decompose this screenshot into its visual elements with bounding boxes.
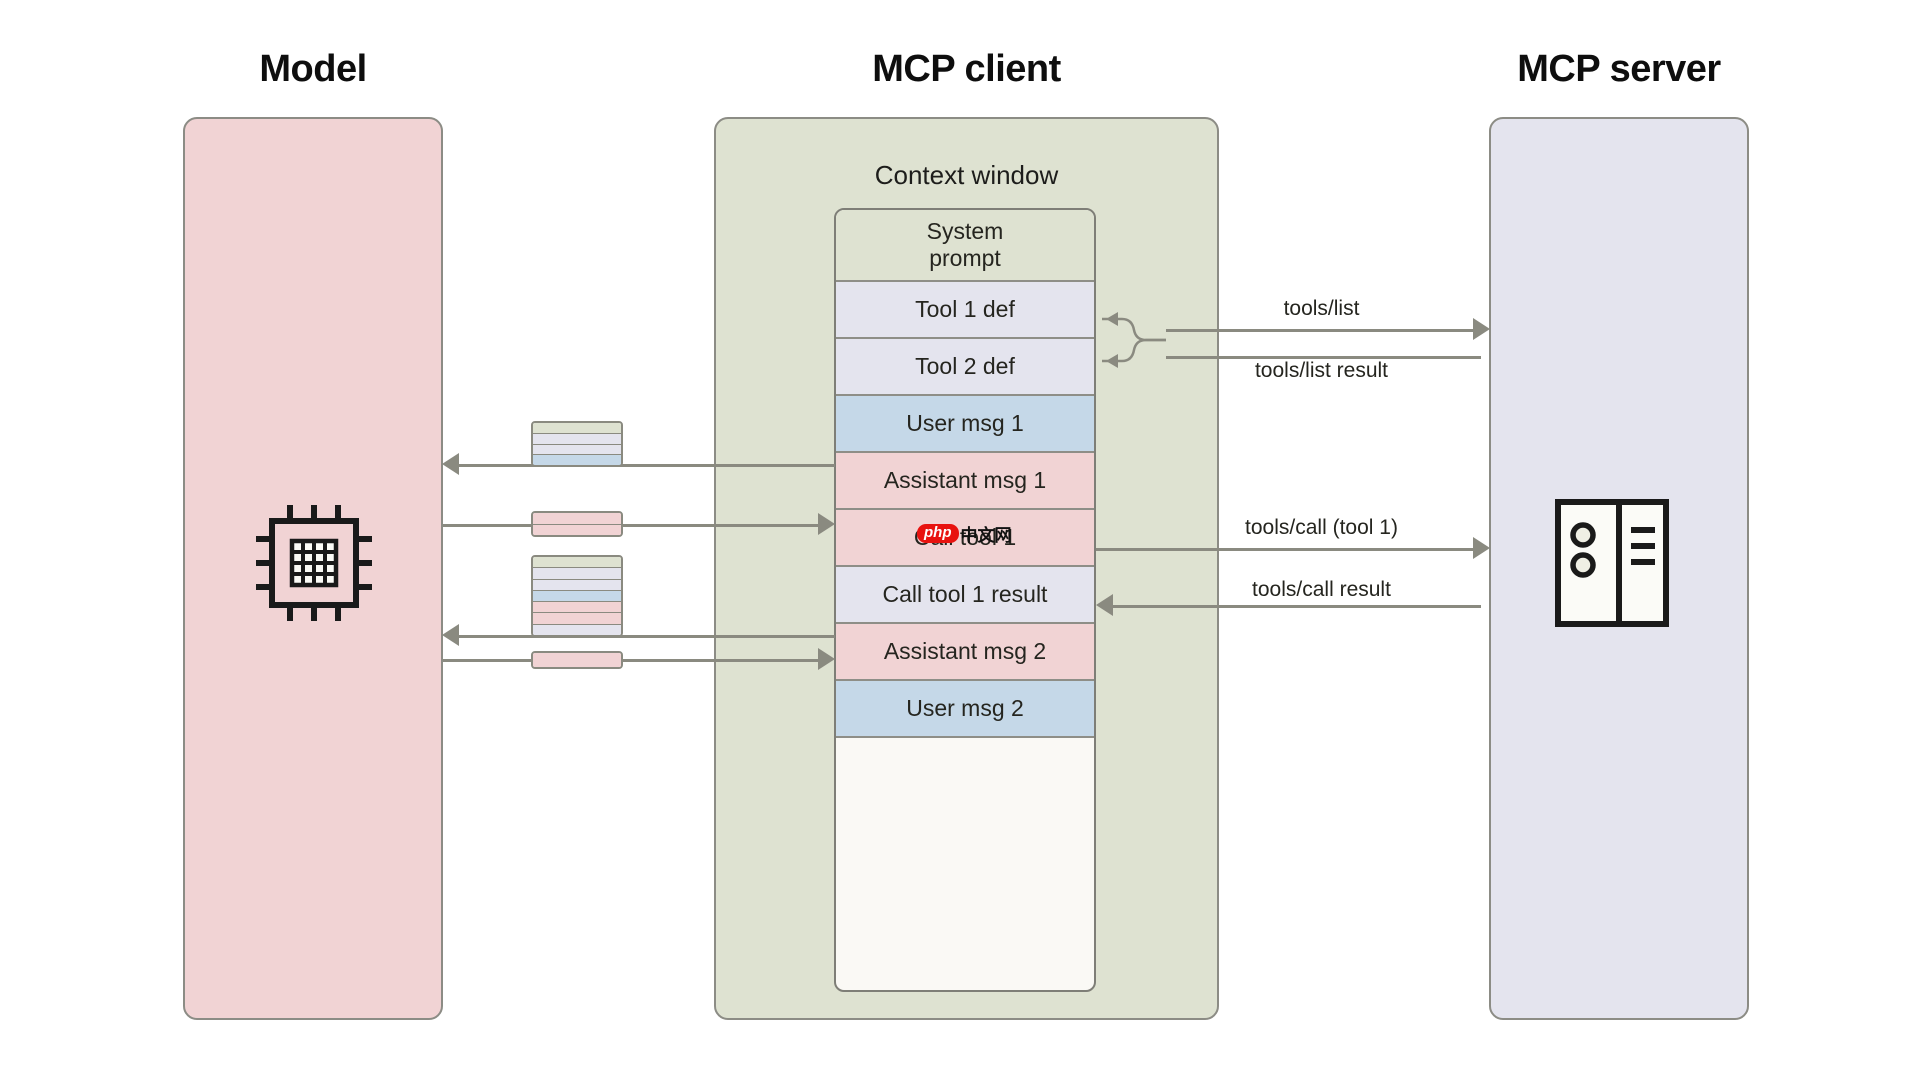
arrowhead-tools-call-result bbox=[1096, 594, 1113, 616]
token-band bbox=[533, 445, 621, 456]
title-mcp-server: MCP server bbox=[1489, 48, 1749, 91]
context-row-label: Call tool 1 result bbox=[883, 581, 1048, 608]
context-row-system-prompt: Systemprompt bbox=[836, 210, 1094, 282]
context-row-empty bbox=[836, 738, 1094, 968]
diagram-canvas: Model MCP client MCP server bbox=[0, 0, 1920, 1080]
token-band bbox=[533, 513, 621, 525]
context-row-label: Tool 2 def bbox=[915, 353, 1015, 380]
label-tools-list: tools/list bbox=[1166, 297, 1477, 321]
arrowhead-to-model-1 bbox=[442, 453, 459, 475]
token-band bbox=[533, 591, 621, 602]
arrow-line-model-to-context-2 bbox=[443, 659, 820, 662]
context-row-label: User msg 2 bbox=[906, 695, 1024, 722]
arrow-line-model-to-context-1 bbox=[443, 524, 820, 527]
context-row-label: Systemprompt bbox=[927, 218, 1004, 272]
title-model: Model bbox=[183, 48, 443, 91]
context-row-user-msg-1: User msg 1 bbox=[836, 396, 1094, 453]
arrowhead-to-context-1 bbox=[818, 513, 835, 535]
arrowhead-tools-call bbox=[1473, 537, 1490, 559]
arrowhead-to-model-2 bbox=[442, 624, 459, 646]
arrowhead-to-context-2 bbox=[818, 648, 835, 670]
context-row-label: Call tool 1 bbox=[914, 524, 1016, 551]
context-row-call-tool-1-result: Call tool 1 result bbox=[836, 567, 1094, 624]
token-band bbox=[533, 423, 621, 434]
token-stack-to-model-2 bbox=[531, 555, 623, 637]
context-row-assistant-msg-2: Assistant msg 2 bbox=[836, 624, 1094, 681]
cpu-chip-icon bbox=[248, 497, 380, 629]
context-row-label: Tool 1 def bbox=[915, 296, 1015, 323]
context-row-user-msg-2: User msg 2 bbox=[836, 681, 1094, 738]
token-band bbox=[533, 613, 621, 624]
arrow-line-tools-call-result bbox=[1112, 605, 1481, 608]
token-stack-from-model-1 bbox=[531, 511, 623, 537]
context-row-label: Assistant msg 2 bbox=[884, 638, 1046, 665]
token-stack-to-model-1 bbox=[531, 421, 623, 467]
token-band bbox=[533, 434, 621, 445]
server-rack-icon bbox=[1553, 497, 1671, 629]
token-band bbox=[533, 625, 621, 635]
context-row-call-tool-1: Call tool 1 bbox=[836, 510, 1094, 567]
token-band bbox=[533, 568, 621, 579]
context-row-label: Assistant msg 1 bbox=[884, 467, 1046, 494]
label-tools-call: tools/call (tool 1) bbox=[1166, 516, 1477, 540]
context-row-tool-1-def: Tool 1 def bbox=[836, 282, 1094, 339]
token-band bbox=[533, 557, 621, 568]
token-band bbox=[533, 455, 621, 465]
context-row-assistant-msg-1: Assistant msg 1 bbox=[836, 453, 1094, 510]
arrowhead-tools-list bbox=[1473, 318, 1490, 340]
title-mcp-client: MCP client bbox=[714, 48, 1219, 91]
arrow-line-tools-list bbox=[1166, 329, 1477, 332]
arrow-line-tools-call bbox=[1096, 548, 1477, 551]
arrow-line-context-to-model-1 bbox=[458, 464, 835, 467]
context-window-label: Context window bbox=[714, 160, 1219, 191]
token-band bbox=[533, 653, 621, 667]
token-band bbox=[533, 580, 621, 591]
label-tools-list-result: tools/list result bbox=[1166, 359, 1477, 383]
context-window-box: SystempromptTool 1 defTool 2 defUser msg… bbox=[834, 208, 1096, 992]
fork-connector-tools-list bbox=[1096, 300, 1166, 380]
context-row-label: User msg 1 bbox=[906, 410, 1024, 437]
token-band bbox=[533, 525, 621, 536]
label-tools-call-result: tools/call result bbox=[1166, 578, 1477, 602]
context-row-tool-2-def: Tool 2 def bbox=[836, 339, 1094, 396]
arrow-line-context-to-model-2 bbox=[458, 635, 835, 638]
token-band bbox=[533, 602, 621, 613]
token-stack-from-model-2 bbox=[531, 651, 623, 669]
